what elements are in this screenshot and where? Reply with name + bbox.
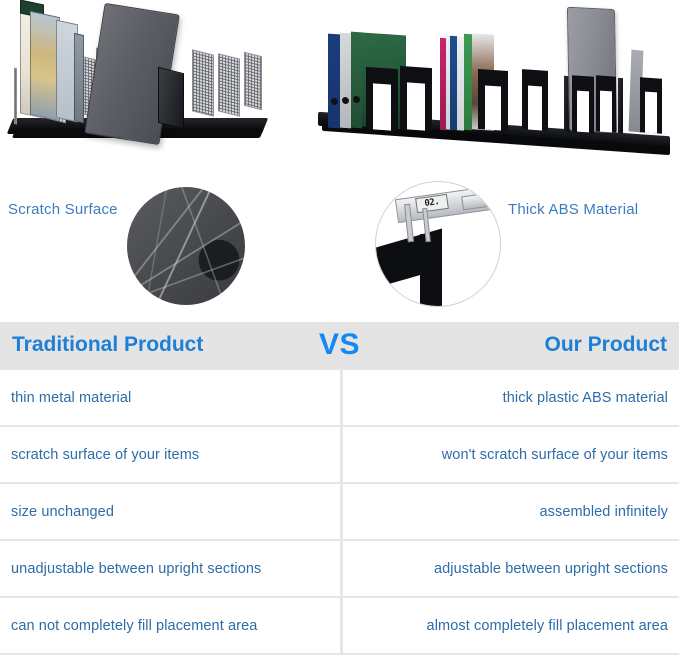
header-our-product: Our Product bbox=[340, 333, 679, 357]
binder-gray bbox=[340, 33, 351, 129]
upright-divider bbox=[596, 75, 616, 132]
upright-divider bbox=[366, 67, 398, 131]
abs-material-detail-circle: 02. bbox=[375, 181, 501, 307]
binder-hole bbox=[342, 97, 349, 104]
cell-traditional: size unchanged bbox=[0, 484, 340, 539]
upright-divider bbox=[522, 69, 548, 131]
mesh-divider bbox=[218, 53, 240, 116]
product-photos bbox=[0, 0, 679, 175]
scratch-surface-detail-circle bbox=[127, 187, 245, 305]
book-extra bbox=[74, 33, 84, 123]
book-green-spine bbox=[464, 34, 472, 131]
cell-traditional: thin metal material bbox=[0, 370, 340, 425]
cell-ours: won't scratch surface of your items bbox=[340, 427, 679, 482]
cell-ours: adjustable between upright sections bbox=[340, 541, 679, 596]
cell-ours: thick plastic ABS material bbox=[340, 370, 679, 425]
callout-label-scratch-surface: Scratch Surface bbox=[8, 201, 118, 218]
feature-callouts: Scratch Surface 02. Thick ABS Material bbox=[0, 175, 679, 322]
cell-ours: almost completely fill placement area bbox=[340, 598, 679, 653]
binder-green bbox=[351, 32, 362, 129]
mesh-divider bbox=[192, 49, 214, 116]
comparison-table-body: thin metal material thick plastic ABS ma… bbox=[0, 368, 679, 655]
mesh-divider bbox=[14, 68, 17, 125]
comparison-table-header: Traditional Product Our Product VS bbox=[0, 322, 679, 368]
photo-our-product bbox=[300, 0, 679, 175]
upright-divider bbox=[618, 78, 623, 133]
upright-divider bbox=[572, 75, 594, 133]
comparison-table: Traditional Product Our Product VS thin … bbox=[0, 322, 679, 655]
cell-ours: assembled infinitely bbox=[340, 484, 679, 539]
binder-hole bbox=[331, 98, 338, 105]
upright-divider bbox=[400, 66, 432, 131]
cell-traditional: unadjustable between upright sections bbox=[0, 541, 340, 596]
binder-blue bbox=[328, 34, 340, 129]
cell-traditional: can not completely fill placement area bbox=[0, 598, 340, 653]
mesh-divider bbox=[244, 52, 262, 110]
photo-traditional-product bbox=[0, 0, 300, 175]
binder-hole bbox=[353, 96, 360, 103]
abs-part-upright bbox=[420, 234, 442, 307]
solid-divider bbox=[158, 67, 184, 129]
column-divider bbox=[340, 370, 343, 655]
header-traditional-product: Traditional Product bbox=[0, 333, 340, 357]
cell-traditional: scratch surface of your items bbox=[0, 427, 340, 482]
callout-label-thick-abs-material: Thick ABS Material bbox=[508, 201, 638, 218]
book-blue bbox=[450, 36, 457, 130]
upright-divider bbox=[640, 77, 662, 134]
upright-divider bbox=[478, 69, 508, 131]
